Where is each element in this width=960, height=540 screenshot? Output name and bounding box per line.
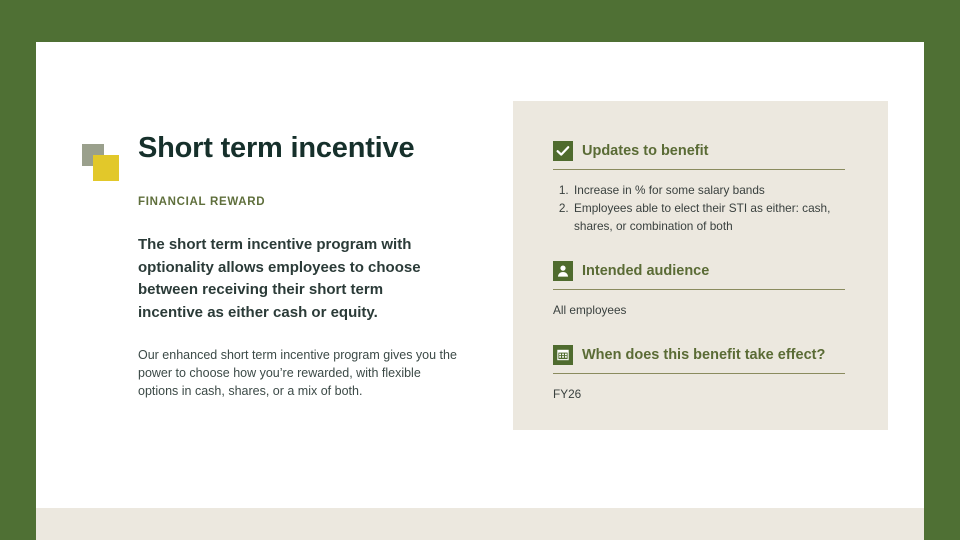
category-eyebrow: FINANCIAL REWARD (138, 196, 502, 208)
left-content-column: Short term incentive FINANCIAL REWARD Th… (82, 132, 502, 400)
section-title: Updates to benefit (582, 143, 708, 159)
section-header: Updates to benefit (553, 141, 845, 161)
audience-value: All employees (553, 302, 845, 319)
section-header: Intended audience (553, 261, 845, 281)
check-square-icon (553, 141, 573, 161)
info-panel: Updates to benefit Increase in % for som… (513, 101, 888, 430)
section-title: Intended audience (582, 263, 709, 279)
effective-date-value: FY26 (553, 386, 845, 403)
section-header: When does this benefit take effect? (553, 345, 845, 365)
section-intended-audience: Intended audience All employees (553, 261, 845, 319)
section-divider (553, 289, 845, 290)
slide-background: Short term incentive FINANCIAL REWARD Th… (0, 0, 960, 540)
list-item: Increase in % for some salary bands (572, 181, 845, 199)
square-yellow-icon (93, 155, 119, 181)
section-effective-date: When does this benefit take effect? FY26 (553, 345, 845, 403)
page-title: Short term incentive (138, 132, 414, 165)
updates-list: Increase in % for some salary bands Empl… (553, 181, 845, 235)
section-updates-to-benefit: Updates to benefit Increase in % for som… (553, 141, 845, 235)
section-divider (553, 169, 845, 170)
footer-band (36, 508, 924, 540)
section-title: When does this benefit take effect? (582, 347, 825, 363)
list-item: Employees able to elect their STI as eit… (572, 199, 845, 235)
body-paragraph: Our enhanced short term incentive progra… (138, 346, 458, 400)
title-row: Short term incentive (82, 132, 502, 184)
lede-paragraph: The short term incentive program with op… (138, 234, 438, 324)
section-divider (553, 373, 845, 374)
brand-logo (82, 144, 124, 182)
calendar-icon (553, 345, 573, 365)
slide-card: Short term incentive FINANCIAL REWARD Th… (36, 42, 924, 540)
person-icon (553, 261, 573, 281)
